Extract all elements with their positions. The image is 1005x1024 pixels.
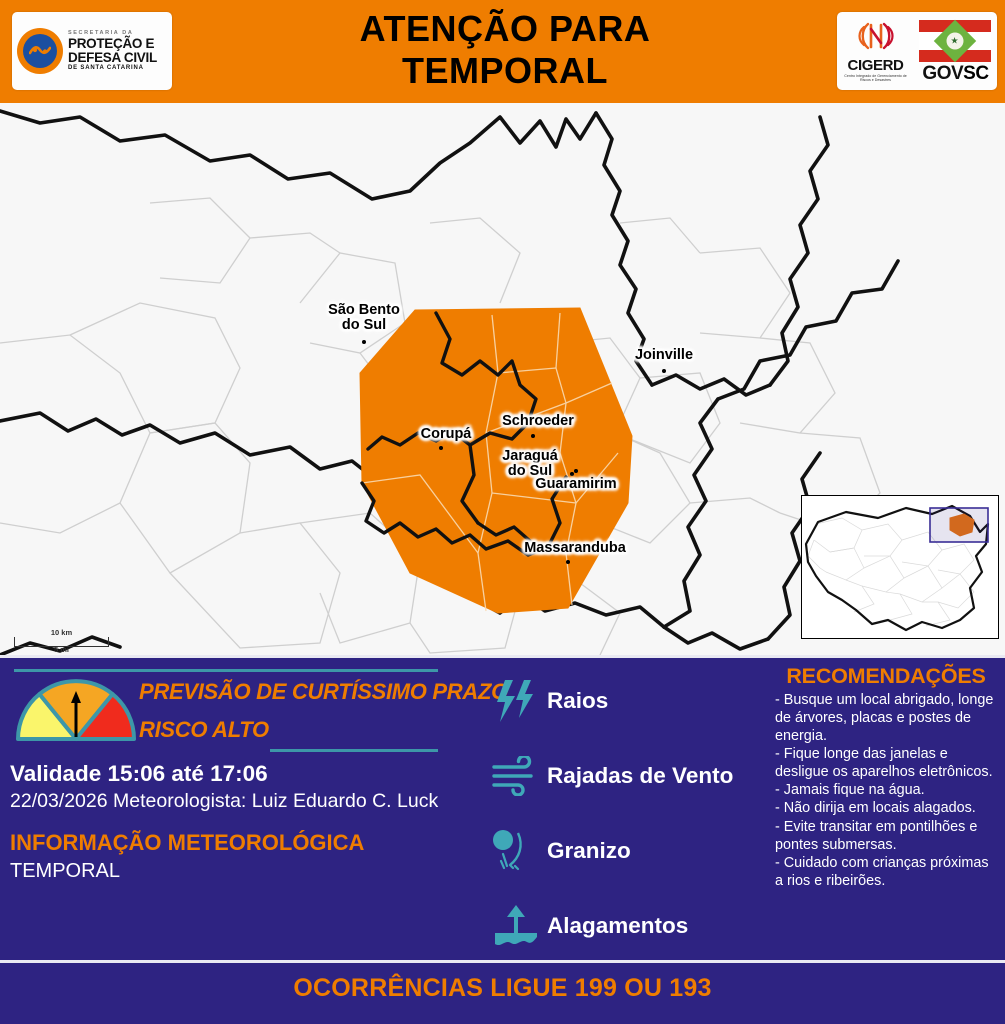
govsc-gov: GOV: [922, 63, 963, 84]
flood-icon: [485, 903, 547, 949]
hazard-list: Raios Rajadas de Vento: [485, 663, 775, 963]
page-title-line2: TEMPORAL: [260, 50, 750, 92]
city-dot-massaranduba: [566, 560, 570, 564]
header-banner: SECRETARIA DA PROTEÇÃO E DEFESA CIVIL DE…: [0, 0, 1005, 103]
info-panel: PREVISÃO DE CURTÍSSIMO PRAZO RISCO ALTO …: [0, 655, 1005, 960]
forecast-kicker: PREVISÃO DE CURTÍSSIMO PRAZO: [139, 679, 508, 705]
map-scale-bar: 10 km 5 mi: [14, 637, 109, 647]
recommendations-heading: RECOMENDAÇÕES: [775, 665, 997, 689]
city-label-massaranduba: Massaranduba: [524, 541, 626, 556]
city-dot-sao-bento-do-sul: [362, 340, 366, 344]
recommendation-item: - Fique longe das janelas e desligue os …: [775, 745, 997, 781]
logo-line-defesa: DEFESA CIVIL: [68, 51, 157, 65]
info-section-label: INFORMAÇÃO METEOROLÓGICA: [10, 830, 364, 856]
scale-km: 10 km: [15, 628, 108, 637]
footer-top-rule: [0, 960, 1005, 963]
risk-level-label: RISCO ALTO: [139, 717, 269, 743]
footer-bar: OCORRÊNCIAS LIGUE 199 OU 193: [0, 960, 1005, 1024]
info-section-value: TEMPORAL: [10, 860, 120, 883]
recommendations-body: - Busque um local abrigado, longe de árv…: [775, 691, 997, 891]
validity-text: Validade 15:06 até 17:06: [10, 761, 268, 787]
hazard-label-raios: Raios: [547, 688, 608, 714]
emergency-phone-text: OCORRÊNCIAS LIGUE 199 OU 193: [0, 974, 1005, 1003]
risk-gauge: [14, 677, 138, 743]
logo-line-protecao: PROTEÇÃO E: [68, 37, 157, 51]
state-inset-map[interactable]: [801, 495, 999, 639]
recommendation-item: - Jamais fique na água.: [775, 781, 997, 799]
recommendation-item: - Evite transitar em pontilhões e pontes…: [775, 818, 997, 854]
hazard-item-raios: Raios: [485, 663, 775, 738]
govsc-logo: ★ GOVSC: [919, 20, 993, 83]
hazard-item-granizo: Granizo: [485, 813, 775, 888]
city-dot-guaramirim: [574, 469, 578, 473]
alert-map[interactable]: São Bento do Sul Joinville Schroeder Cor…: [0, 103, 1005, 655]
hazard-label-alagamentos: Alagamentos: [547, 913, 688, 939]
civil-defense-emblem-icon: [17, 28, 63, 74]
wind-gust-icon: [485, 756, 547, 796]
hazard-label-rajadas-de-vento: Rajadas de Vento: [547, 763, 733, 789]
recommendations-block: RECOMENDAÇÕES - Busque um local abrigado…: [775, 665, 997, 890]
city-dot-joinville: [662, 369, 666, 373]
page-title-line1: ATENÇÃO PARA: [260, 8, 750, 50]
civil-defense-logo: SECRETARIA DA PROTEÇÃO E DEFESA CIVIL DE…: [12, 12, 172, 90]
city-label-jaragua-do-sul: Jaraguá do Sul: [502, 449, 558, 479]
hazard-label-granizo: Granizo: [547, 838, 631, 864]
hazard-item-rajadas-de-vento: Rajadas de Vento: [485, 738, 775, 813]
city-dot-corupa: [439, 446, 443, 450]
cigerd-subtitle: Centro Integrado de Gerenciamento de Ris…: [842, 74, 910, 83]
recommendation-item: - Busque um local abrigado, longe de árv…: [775, 691, 997, 745]
city-label-schroeder: Schroeder: [502, 414, 574, 429]
page-title: ATENÇÃO PARA TEMPORAL: [260, 8, 750, 92]
partner-logos: CIGERD Centro Integrado de Gerenciamento…: [837, 12, 997, 90]
city-dot-schroeder: [531, 434, 535, 438]
recommendation-item: - Não dirija em locais alagados.: [775, 799, 997, 817]
panel-top-rule: [0, 655, 1005, 658]
scale-mi: 5 mi: [15, 645, 108, 654]
cigerd-name: CIGERD: [842, 58, 910, 73]
logo-line-estado: DE SANTA CATARINA: [68, 65, 157, 71]
hazard-item-alagamentos: Alagamentos: [485, 888, 775, 963]
alert-infographic: SECRETARIA DA PROTEÇÃO E DEFESA CIVIL DE…: [0, 0, 1005, 1024]
govsc-sc: SC: [963, 63, 988, 84]
gauge-rule-bottom: [270, 749, 438, 752]
city-label-joinville: Joinville: [635, 348, 693, 363]
city-label-sao-bento-do-sul: São Bento do Sul: [328, 303, 400, 333]
recommendation-item: - Cuidado com crianças próximas a rios e…: [775, 854, 997, 890]
santa-catarina-flag-icon: ★: [919, 20, 991, 62]
gauge-rule-top: [14, 669, 438, 672]
lightning-bolt-icon: [485, 678, 547, 724]
cigerd-logo: CIGERD Centro Integrado de Gerenciamento…: [842, 20, 910, 83]
meteorologist-line: 22/03/2026 Meteorologista: Luiz Eduardo …: [10, 790, 438, 813]
govsc-text: GOVSC: [919, 64, 993, 83]
hail-icon: [485, 828, 547, 874]
city-label-corupa: Corupá: [421, 427, 472, 442]
city-label-guaramirim: Guaramirim: [535, 477, 616, 492]
cigerd-mark-icon: [852, 20, 900, 52]
